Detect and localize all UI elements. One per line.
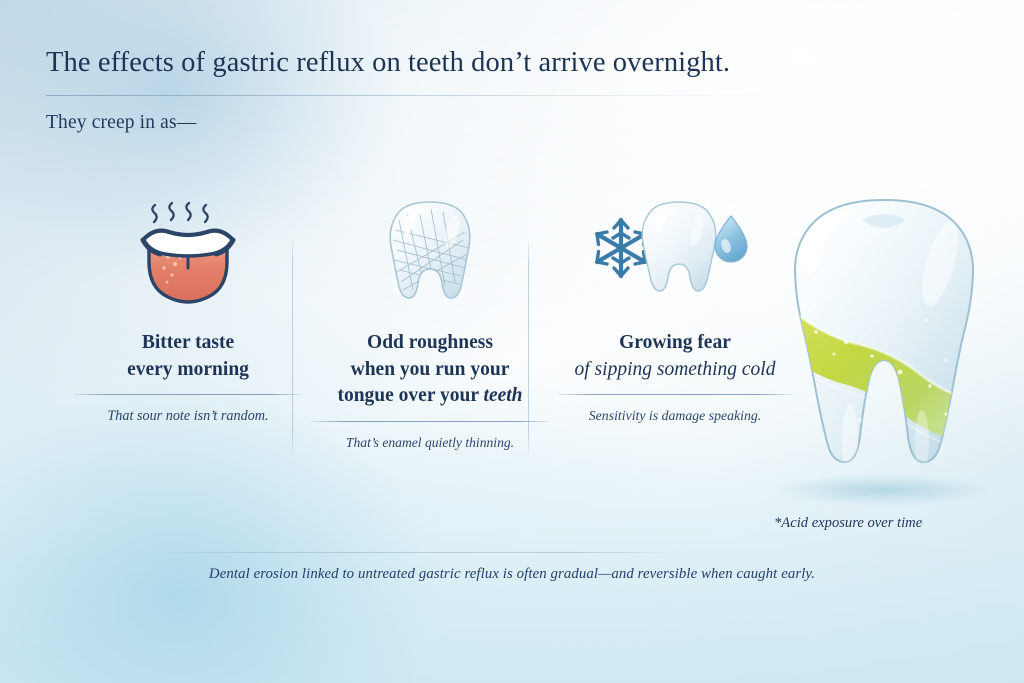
symptom-icon-container bbox=[310, 196, 550, 314]
symptom-heading-line-1: Growing fear bbox=[619, 332, 731, 353]
footer-divider bbox=[150, 552, 686, 553]
symptom-columns: Bitter taste every morning That sour not… bbox=[60, 196, 766, 476]
symptom-card-divider bbox=[74, 394, 302, 395]
symptom-card-bitter-taste: Bitter taste every morning That sour not… bbox=[74, 196, 302, 426]
scratched-tooth-icon bbox=[373, 196, 487, 314]
infographic-poster: The effects of gastric reflux on teeth d… bbox=[0, 0, 1024, 683]
symptom-heading-line-3: tongue over your bbox=[337, 385, 483, 406]
footer-text: Dental erosion linked to untreated gastr… bbox=[0, 566, 1024, 583]
page-subtitle: They creep in as— bbox=[46, 112, 196, 134]
title-divider bbox=[46, 95, 791, 96]
symptom-heading-line-2: every morning bbox=[127, 359, 249, 380]
steaming-tongue-icon bbox=[123, 198, 253, 304]
cold-sensitivity-tooth-icon bbox=[585, 196, 765, 308]
symptom-caption: That’s enamel quietly thinning. bbox=[310, 434, 550, 452]
symptom-heading: Bitter taste every morning bbox=[74, 330, 302, 383]
symptom-heading-emphasis: teeth bbox=[484, 385, 523, 406]
symptom-heading-line-1: Odd roughness bbox=[367, 332, 493, 353]
symptom-card-divider bbox=[310, 421, 550, 422]
symptom-icon-container bbox=[74, 196, 302, 304]
symptom-card-odd-roughness: Odd roughness when you run your tongue o… bbox=[310, 196, 550, 452]
page-title: The effects of gastric reflux on teeth d… bbox=[46, 46, 926, 81]
symptom-caption: That sour note isn’t random. bbox=[74, 407, 302, 425]
acid-exposure-note: *Acid exposure over time bbox=[774, 515, 922, 532]
symptom-heading-line-1: Bitter taste bbox=[142, 332, 234, 353]
symptom-heading-line-2: when you run your bbox=[351, 359, 510, 380]
eroded-tooth-illustration bbox=[750, 190, 1018, 508]
symptom-heading: Odd roughness when you run your tongue o… bbox=[310, 330, 550, 410]
